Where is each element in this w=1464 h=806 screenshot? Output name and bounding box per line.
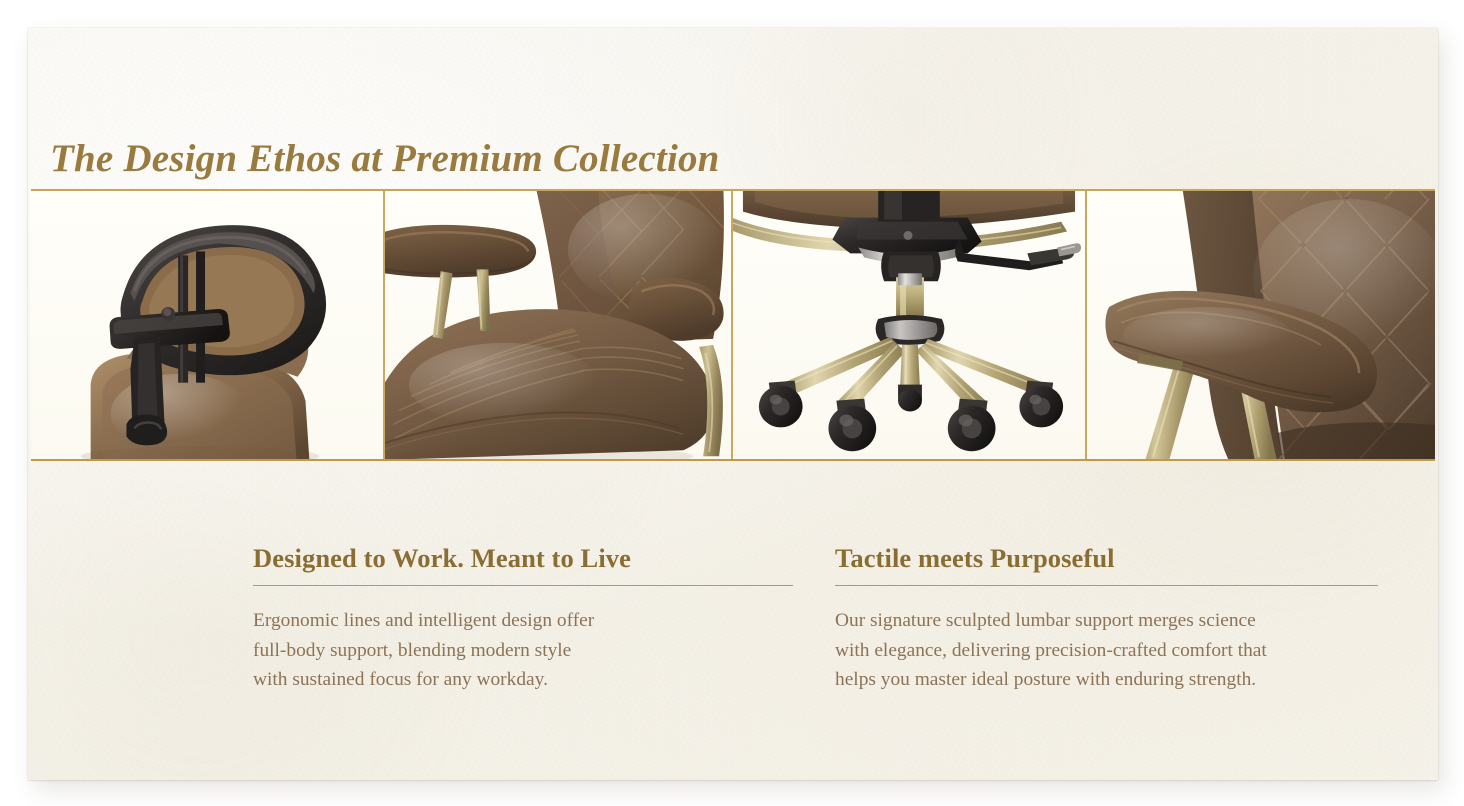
- gallery-panel-headrest[interactable]: [31, 191, 385, 459]
- feature-designed-to-work: Designed to Work. Meant to Live Ergonomi…: [253, 544, 793, 695]
- gallery-panel-diamond-quilt[interactable]: [1087, 191, 1435, 459]
- design-ethos-card: The Design Ethos at Premium Collection: [28, 28, 1438, 780]
- quilted-back-illustration: [1087, 191, 1435, 459]
- feature-body: Ergonomic lines and intelligent design o…: [253, 606, 793, 694]
- feature-divider: [835, 585, 1378, 586]
- headrest-illustration: [31, 191, 383, 459]
- feature-body-line: helps you master ideal posture with endu…: [835, 665, 1378, 694]
- chair-detail-strip: [31, 189, 1435, 461]
- feature-body: Our signature sculpted lumbar support me…: [835, 606, 1378, 694]
- feature-body-line: with sustained focus for any workday.: [253, 665, 793, 694]
- feature-heading: Designed to Work. Meant to Live: [253, 544, 793, 573]
- page-title: The Design Ethos at Premium Collection: [50, 136, 720, 181]
- gallery-panel-base-casters[interactable]: [733, 191, 1087, 459]
- feature-heading: Tactile meets Purposeful: [835, 544, 1378, 573]
- feature-body-line: with elegance, delivering precision-craf…: [835, 636, 1378, 665]
- page-root: The Design Ethos at Premium Collection: [0, 0, 1464, 806]
- feature-body-line: full-body support, blending modern style: [253, 636, 793, 665]
- feature-tactile-purposeful: Tactile meets Purposeful Our signature s…: [835, 544, 1378, 695]
- gallery-panel-seat-armrest[interactable]: [385, 191, 733, 459]
- feature-body-line: Ergonomic lines and intelligent design o…: [253, 606, 793, 635]
- feature-divider: [253, 585, 793, 586]
- feature-body-line: Our signature sculpted lumbar support me…: [835, 606, 1378, 635]
- seat-armrest-illustration: [385, 191, 731, 459]
- base-casters-illustration: [733, 191, 1085, 459]
